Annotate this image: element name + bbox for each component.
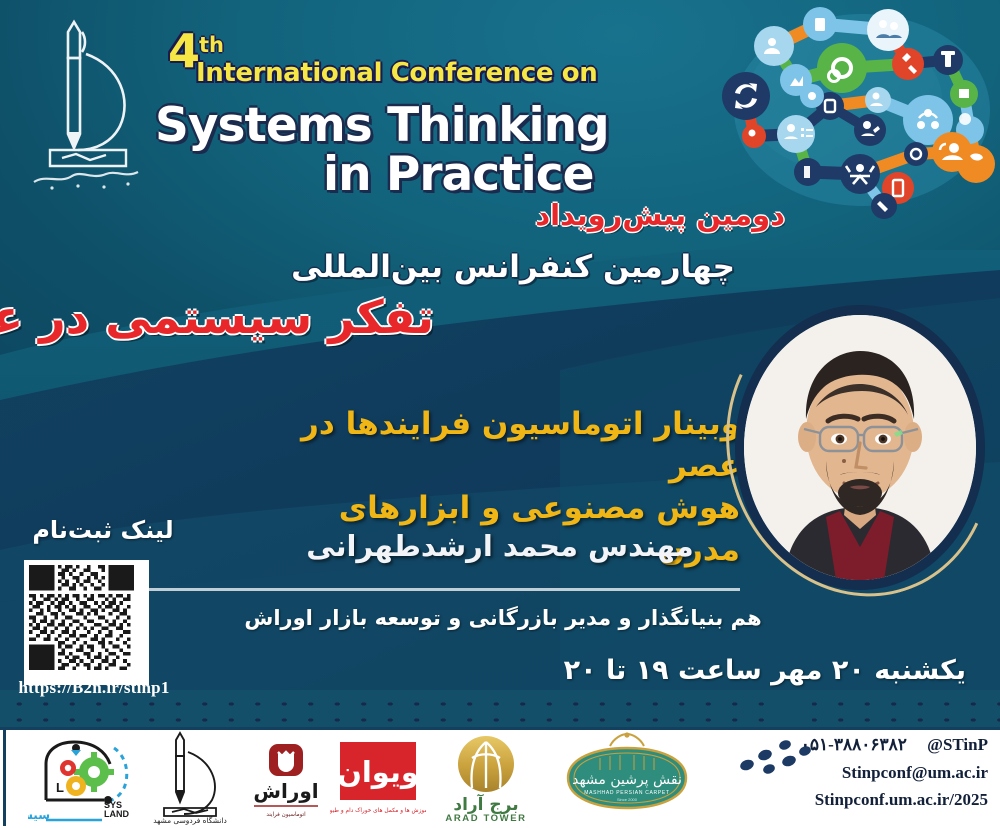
sponsor-logo-arad-tower: برج آراد ARAD TOWER [432,730,540,826]
registration-label: لینک ثبت‌نام [18,516,188,544]
sponsor-logo-ferdowsi: دانشگاه فردوسی مشهد [142,730,238,826]
svg-text:اتوماسیون فرایند: اتوماسیون فرایند [266,812,306,818]
qr-code-icon [29,565,134,670]
horizontal-rule [128,588,740,591]
speaker-portrait [735,305,985,590]
conference-title-line-2: in Practice [323,147,593,202]
conference-poster: 4 th International Conference on Systems… [0,0,1000,828]
contact-website[interactable]: Stinpconf.um.ac.ir/2025 [678,786,988,814]
conference-title-fa: تفکر سیستمی در عمل [0,290,434,344]
svg-text:آموزش ها و مکمل های خوراک دام: آموزش ها و مکمل های خوراک دام و طیور [330,806,426,814]
conference-title-line-1: Systems Thinking [155,98,609,153]
svg-text:ویوان: ویوان [337,755,419,789]
svg-text:Since 2000: Since 2000 [617,797,638,802]
vivan-icon: ویوان آموزش ها و مکمل های خوراک دام و طی… [330,730,426,826]
contact-phone-row: ۰۵۱-۳۸۸۰۶۳۸۲ @STinP [678,731,988,759]
contact-phone[interactable]: ۰۵۱-۳۸۸۰۶۳۸۲ [801,731,907,759]
avarash-icon: اوراش اتوماسیون فرایند [240,730,332,826]
contact-email[interactable]: Stinpconf@um.ac.ir [678,759,988,787]
footer-left-accent [3,730,6,826]
ferdowsi-logo-icon: دانشگاه فردوسی مشهد [142,730,238,826]
registration-url[interactable]: https://B2n.ir/stinp1 [6,678,182,698]
webinar-title-line-1: وبینار اتوماسیون فرایندها در عصر [260,404,740,488]
svg-text:سیس‌لند: سیس‌لند [28,808,50,822]
svg-text:L: L [56,780,64,795]
dot-pattern-gap [784,694,812,726]
contact-social-handle[interactable]: @STinP [927,735,988,754]
event-datetime: یکشنبه ۲۰ مهر ساعت ۱۹ تا ۲۰ [546,655,966,686]
ferdowsi-university-logo [16,14,156,194]
speaker-role: هم بنیانگذار و مدیر بازرگانی و توسعه باز… [178,606,828,630]
conference-ordinal-suffix: th [199,33,224,57]
contact-info: ۰۵۱-۳۸۸۰۶۳۸۲ @STinP Stinpconf@um.ac.ir S… [678,731,988,814]
conference-number: 4 [168,28,199,74]
svg-text:ARAD TOWER: ARAD TOWER [445,813,526,824]
svg-text:دانشگاه فردوسی مشهد: دانشگاه فردوسی مشهد [153,816,227,825]
sponsor-logo-sysland: L SYS LAND سیس‌لند [28,730,140,826]
sponsor-logos: L SYS LAND سیس‌لند دانشگاه فر [14,730,714,826]
svg-text:نقش پرشین مشهد: نقش پرشین مشهد [572,772,682,788]
sponsor-logo-vivan: ویوان آموزش ها و مکمل های خوراک دام و طی… [330,730,426,826]
pre-event-label: دومین پیش‌رویداد [535,198,785,232]
portrait-photo [744,315,976,580]
arad-tower-icon: برج آراد ARAD TOWER [432,730,540,826]
svg-text:MASHHAD PERSIAN CARPET: MASHHAD PERSIAN CARPET [584,790,669,796]
portrait-illustration [744,315,976,580]
speaker-name: مهندس محمد ارشدطهرانی [260,529,740,563]
svg-text:LAND: LAND [104,809,129,819]
registration-qr-code[interactable] [24,560,149,685]
sponsor-logo-avarash: اوراش اتوماسیون فرایند [240,730,332,826]
svg-text:اوراش: اوراش [253,779,318,803]
international-conference-line: International Conference on [196,58,597,88]
svg-text:برج آراد: برج آراد [453,793,518,815]
sysland-icon: L SYS LAND سیس‌لند [28,730,140,826]
conference-line-fa: چهارمین کنفرانس بین‌المللی [291,249,735,285]
dot-pattern-divider [0,694,1000,726]
